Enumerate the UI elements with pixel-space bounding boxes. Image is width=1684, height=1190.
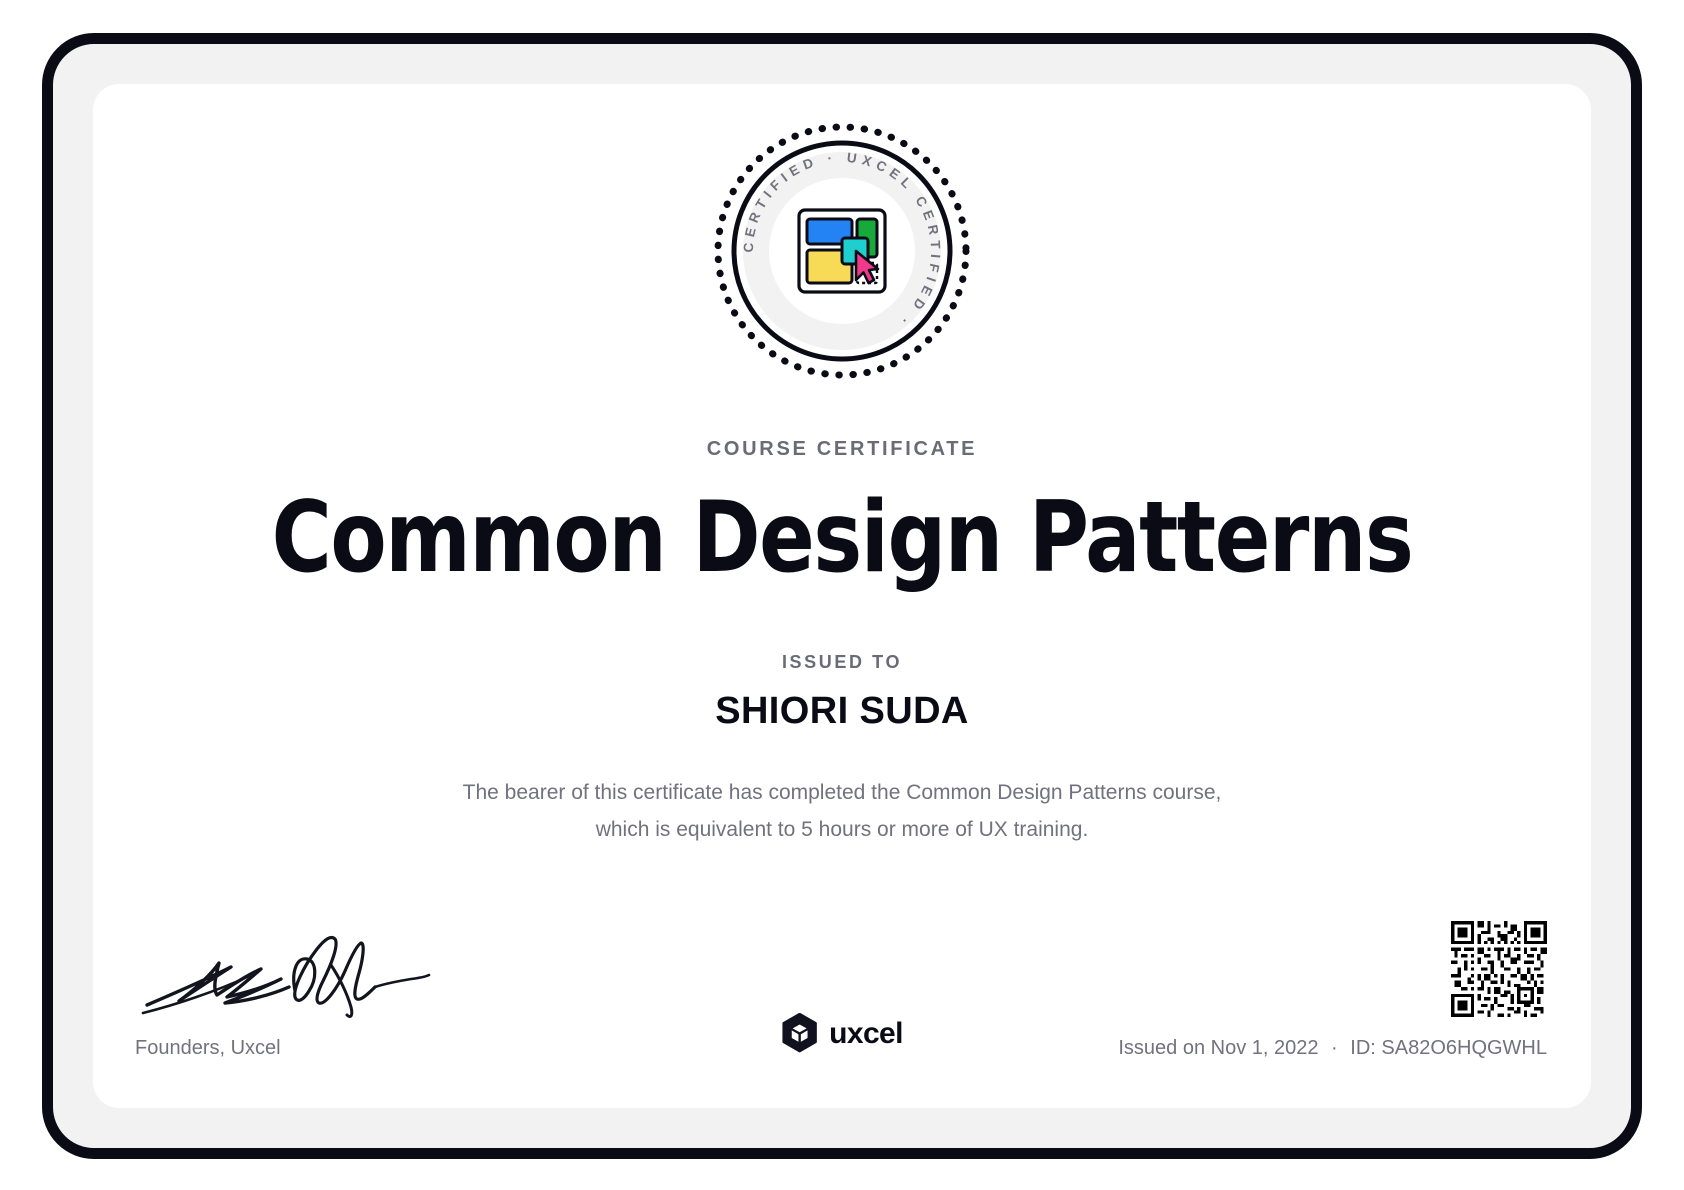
uxcel-certified-seal: UXCEL CERTIFIED · UXCEL CERTIFIED · bbox=[711, 120, 973, 382]
certificate-body-text: The bearer of this certificate has compl… bbox=[442, 774, 1242, 848]
page-title: Common Design Patterns bbox=[145, 482, 1538, 594]
seal-svg: UXCEL CERTIFIED · UXCEL CERTIFIED · bbox=[711, 120, 973, 382]
certificate-meta: Issued on Nov 1, 2022 · ID: SA82O6HQGWHL bbox=[1118, 921, 1547, 1060]
uxcel-wordmark: uxcel bbox=[829, 1017, 903, 1051]
qr-code-icon[interactable] bbox=[1451, 921, 1547, 1017]
uxcel-hexagon-icon bbox=[781, 1013, 818, 1054]
certificate-card: UXCEL CERTIFIED · UXCEL CERTIFIED · COUR… bbox=[93, 84, 1591, 1108]
certificate-footer: Founders, Uxcel uxcel bbox=[93, 878, 1591, 1108]
signature-caption: Founders, Uxcel bbox=[135, 1037, 475, 1060]
certificate-frame: UXCEL CERTIFIED · UXCEL CERTIFIED · COUR… bbox=[42, 33, 1642, 1159]
recipient-name: SHIORI SUDA bbox=[93, 690, 1591, 733]
uxcel-logo: uxcel bbox=[781, 1013, 903, 1054]
signature-block: Founders, Uxcel bbox=[135, 931, 475, 1060]
design-patterns-icon bbox=[799, 210, 885, 292]
issued-on-text: Issued on Nov 1, 2022 bbox=[1118, 1037, 1318, 1059]
issued-to-label: ISSUED TO bbox=[93, 652, 1591, 673]
founder-signatures-icon bbox=[135, 931, 435, 1023]
kicker-label: COURSE CERTIFICATE bbox=[93, 438, 1591, 461]
certificate-id-text: ID: SA82O6HQGWHL bbox=[1350, 1037, 1547, 1059]
meta-separator: · bbox=[1324, 1037, 1345, 1059]
issuance-meta: Issued on Nov 1, 2022 · ID: SA82O6HQGWHL bbox=[1118, 1037, 1547, 1060]
